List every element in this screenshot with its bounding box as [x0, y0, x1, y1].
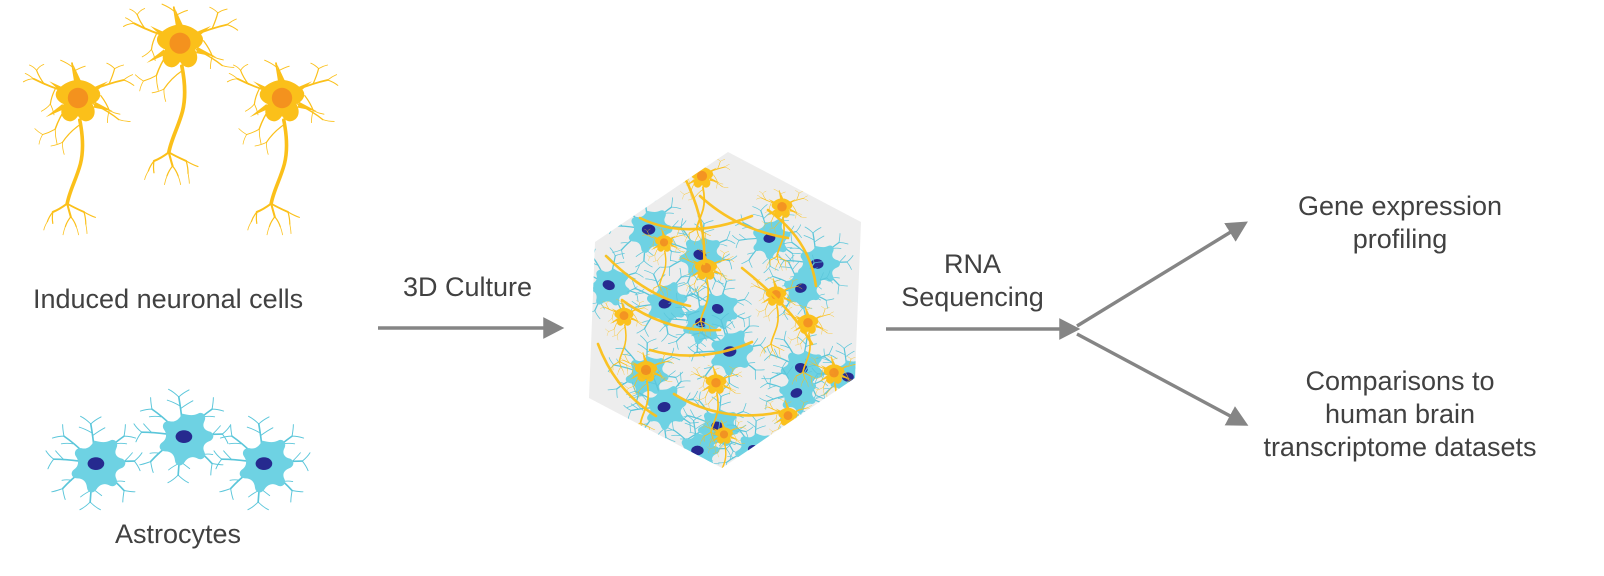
neuron-icon	[227, 60, 337, 235]
culture-cells	[562, 157, 881, 489]
diagram-canvas: Induced neuronal cells Astrocytes 3D Cul…	[0, 0, 1604, 576]
induced-neuronal-cells-group	[23, 4, 337, 235]
arrow-up-right-icon	[1077, 230, 1234, 326]
neuron-icon	[124, 4, 238, 184]
label-gene-expression-profiling: Gene expression profiling	[1245, 190, 1555, 256]
astrocytes-group	[46, 389, 310, 509]
neuron-icon	[23, 60, 133, 235]
label-rna-sequencing: RNA Sequencing	[875, 248, 1070, 314]
label-3d-culture: 3D Culture	[380, 271, 555, 304]
astrocyte-icon	[134, 389, 230, 482]
astrocyte-icon	[46, 416, 142, 509]
label-comparisons-to-human-brain: Comparisons to human brain transcriptome…	[1220, 365, 1580, 464]
astrocyte-icon	[214, 416, 310, 509]
arrow-down-right-icon	[1077, 334, 1234, 418]
label-induced-neuronal-cells: Induced neuronal cells	[33, 283, 327, 316]
hexagon-icon	[589, 152, 861, 468]
label-astrocytes: Astrocytes	[78, 518, 278, 551]
culture-hexagon	[562, 152, 881, 489]
